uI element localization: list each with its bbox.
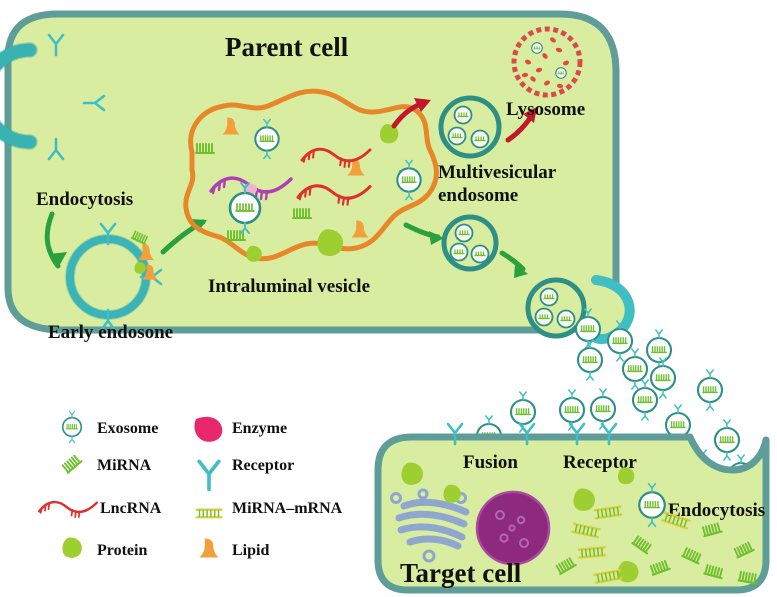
- legend-item-lipid: Lipid: [200, 539, 270, 559]
- legend-label-exosome: Exosome: [97, 420, 158, 437]
- legend-item-protein: Protein: [62, 538, 147, 559]
- mirna-mrna-icon: [197, 510, 222, 518]
- legend-item-lncrna: LncRNA: [39, 500, 162, 517]
- legend-item-exosome: Exosome: [63, 412, 159, 443]
- protein-icon: [62, 538, 81, 558]
- label-fusion: Fusion: [463, 452, 518, 473]
- legend-item-enzyme: Enzyme: [194, 417, 287, 442]
- multivesicular-endosome-upper: [441, 98, 499, 156]
- legend-item-receptor: Receptor: [199, 457, 294, 489]
- legend-item-mirna: MiRNA: [62, 454, 152, 474]
- legend-label-lncrna: LncRNA: [100, 500, 162, 517]
- exosome-icon: [578, 340, 602, 380]
- multivesicular-endosome-middle: [444, 217, 496, 269]
- mirna-icon: [62, 454, 82, 472]
- exosome-icon: [591, 389, 615, 429]
- label-multivesicular-endosome-line2: endosome: [438, 185, 518, 206]
- legend-label-mirna-mrna: MiRNA–mRNA: [232, 500, 343, 517]
- legend-item-mirna-mrna: MiRNA–mRNA: [197, 500, 343, 517]
- exosome-icon: [647, 330, 671, 370]
- label-lysosome: Lysosome: [506, 99, 585, 120]
- lysosome: [514, 29, 580, 95]
- label-intraluminal-vesicle: Intraluminal vesicle: [208, 276, 370, 297]
- nucleus-icon: [477, 492, 549, 564]
- legend-label-enzyme: Enzyme: [232, 420, 287, 437]
- legend: Exosome MiRNA LncRNA Protein Enzyme Rece…: [39, 412, 342, 560]
- legend-label-lipid: Lipid: [232, 542, 269, 559]
- target-cell-title: Target cell: [400, 558, 522, 588]
- lncrna-icon: [39, 502, 97, 517]
- label-endocytosis-parent: Endocytosis: [36, 189, 133, 210]
- legend-label-mirna: MiRNA: [97, 457, 152, 474]
- label-early-endosome: Early endosone: [48, 322, 173, 343]
- receptor-icon: [199, 461, 219, 489]
- exosome-icon: [698, 370, 722, 410]
- label-multivesicular-endosome-line1: Multivesicular: [438, 162, 557, 183]
- exosome-icon: [560, 390, 584, 430]
- enzyme-icon: [194, 417, 222, 442]
- legend-label-receptor: Receptor: [232, 457, 294, 474]
- legend-label-protein: Protein: [97, 542, 147, 559]
- lipid-icon: [200, 539, 219, 558]
- diagram-canvas: Parent cell Endocytosis Early endosone: [0, 0, 777, 597]
- exosome-icon: [715, 420, 739, 460]
- parent-cell-title: Parent cell: [225, 32, 349, 62]
